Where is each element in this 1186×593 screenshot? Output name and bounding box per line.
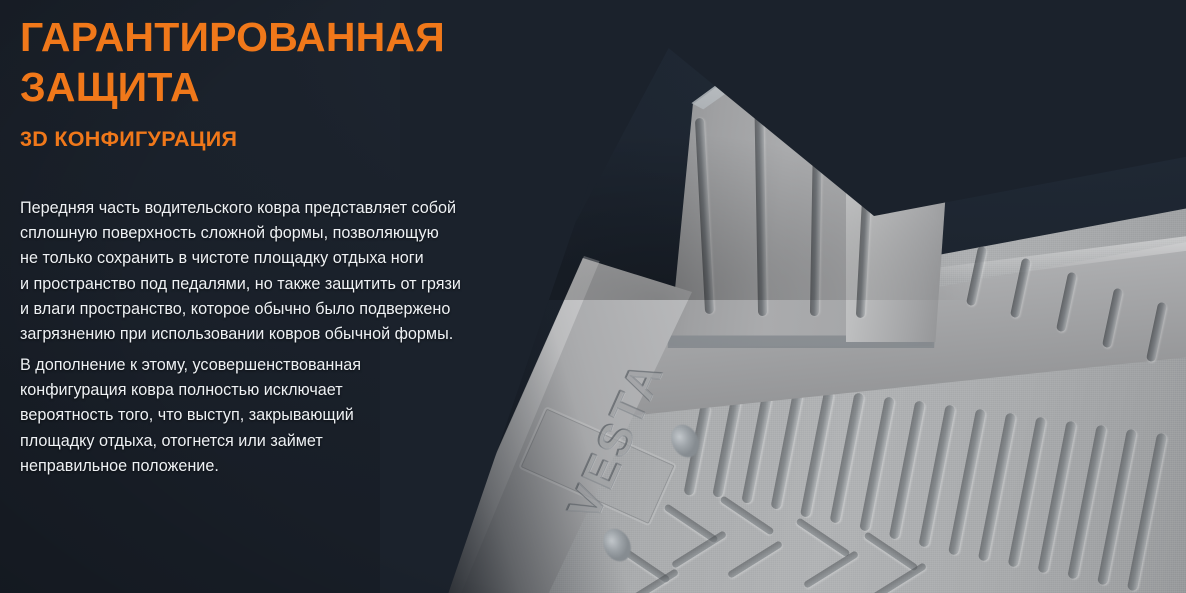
text-column: ГАРАНТИРОВАННАЯ ЗАЩИТА 3D КОНФИГУРАЦИЯ [20, 12, 550, 152]
promo-banner: VESTA ГАРАНТИРОВАННАЯ ЗАЩИТА 3D КОНФИГУР… [0, 0, 1186, 593]
page-subtitle: 3D КОНФИГУРАЦИЯ [20, 126, 550, 152]
page-title: ГАРАНТИРОВАННАЯ ЗАЩИТА [20, 12, 550, 112]
body-paragraph-2: В дополнение к этому, усовершенствованна… [20, 353, 450, 479]
body-paragraph-1: Передняя часть водительского ковра предс… [20, 196, 560, 347]
